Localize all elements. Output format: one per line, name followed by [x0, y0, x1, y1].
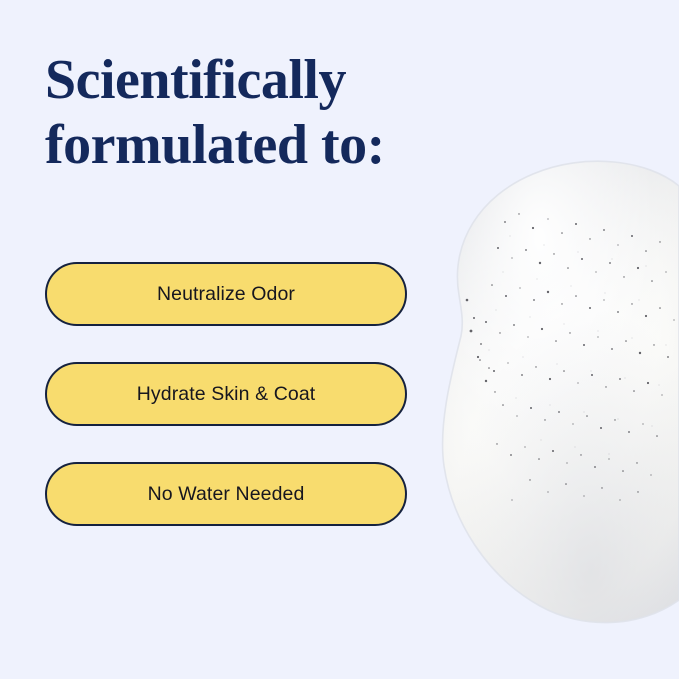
page-title: Scientifically formulated to: [45, 48, 465, 178]
benefit-pill-label: No Water Needed [148, 483, 305, 506]
benefit-pill-neutralize-odor[interactable]: Neutralize Odor [45, 262, 407, 326]
benefit-pill-label: Hydrate Skin & Coat [137, 383, 316, 406]
promo-canvas: Scientifically formulated to: Neutralize… [0, 0, 679, 679]
benefit-pill-hydrate-skin-and-coat[interactable]: Hydrate Skin & Coat [45, 362, 407, 426]
benefit-pill-label: Neutralize Odor [157, 283, 295, 306]
benefit-pill-no-water-needed[interactable]: No Water Needed [45, 462, 407, 526]
benefit-pill-list: Neutralize Odor Hydrate Skin & Coat No W… [45, 262, 407, 526]
